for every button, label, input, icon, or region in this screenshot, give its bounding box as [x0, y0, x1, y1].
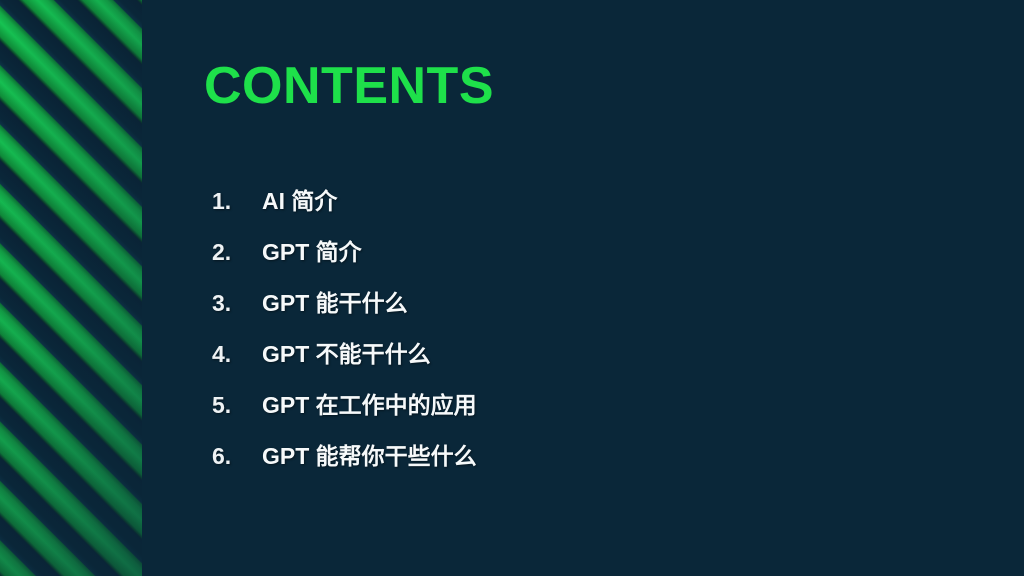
list-item[interactable]: 3. GPT 能干什么 [212, 284, 477, 335]
list-item-label: GPT 不能干什么 [262, 335, 431, 369]
list-item-label: GPT 在工作中的应用 [262, 386, 477, 420]
list-item-number: 3. [212, 290, 262, 317]
list-item-number: 5. [212, 392, 262, 419]
list-item-label: AI 简介 [262, 182, 337, 216]
contents-list: 1. AI 简介 2. GPT 简介 3. GPT 能干什么 4. GPT 不能… [212, 182, 477, 488]
presentation-slide: CONTENTS 1. AI 简介 2. GPT 简介 3. GPT 能干什么 … [0, 0, 1024, 576]
list-item[interactable]: 4. GPT 不能干什么 [212, 335, 477, 386]
page-title: CONTENTS [204, 58, 494, 115]
diagonal-stripe-decoration [0, 0, 142, 576]
list-item-number: 1. [212, 188, 262, 215]
list-item-label: GPT 能干什么 [262, 284, 408, 318]
stripe-pattern [0, 0, 142, 576]
list-item[interactable]: 1. AI 简介 [212, 182, 477, 233]
list-item-number: 4. [212, 341, 262, 368]
list-item[interactable]: 6. GPT 能帮你干些什么 [212, 437, 477, 488]
list-item[interactable]: 5. GPT 在工作中的应用 [212, 386, 477, 437]
list-item-number: 6. [212, 443, 262, 470]
list-item[interactable]: 2. GPT 简介 [212, 233, 477, 284]
list-item-label: GPT 简介 [262, 233, 362, 267]
list-item-label: GPT 能帮你干些什么 [262, 437, 477, 471]
list-item-number: 2. [212, 239, 262, 266]
